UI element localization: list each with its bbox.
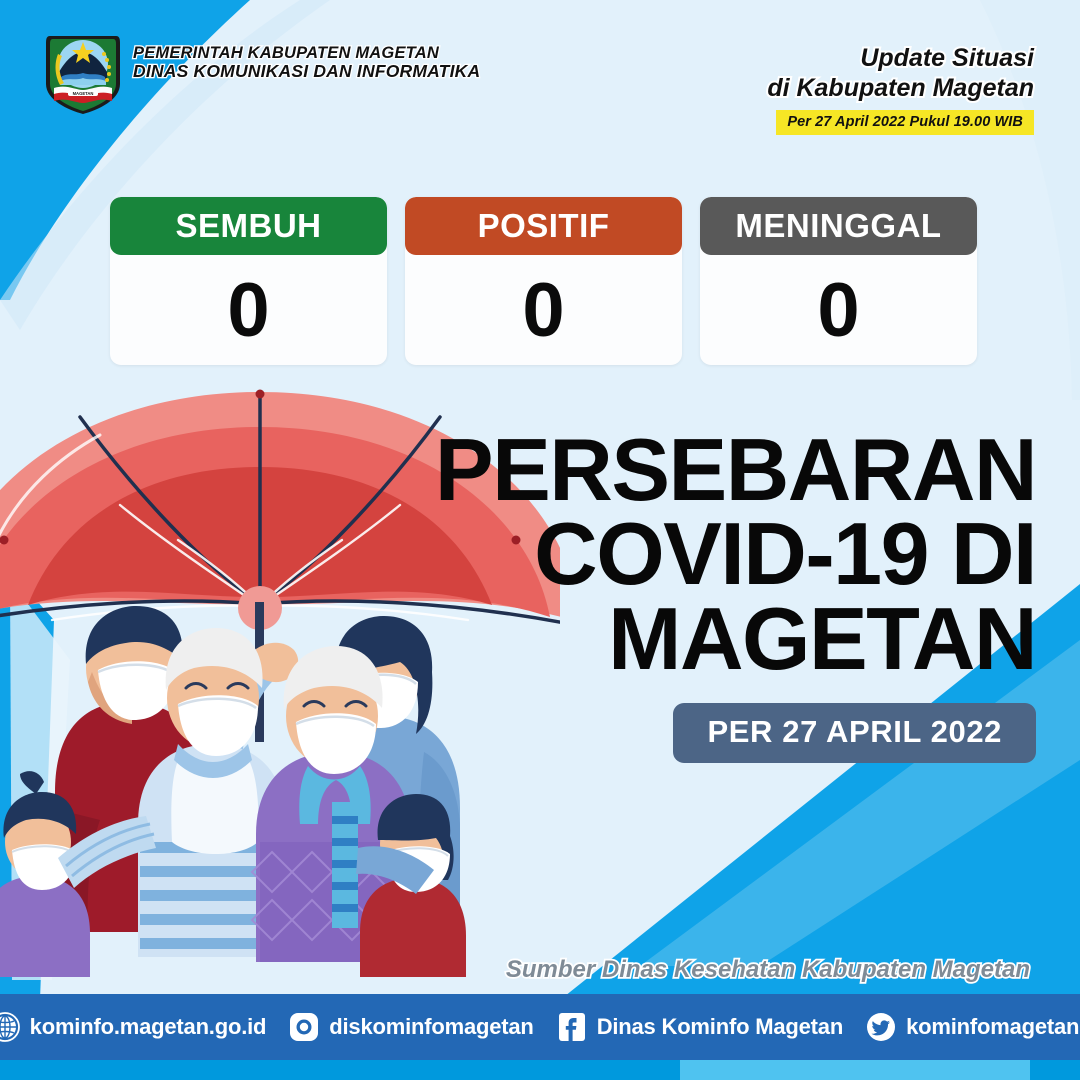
magetan-coat-of-arms-logo: MAGETAN (42, 28, 124, 116)
social-media-footer: kominfo.magetan.go.id diskominfomagetan (0, 994, 1080, 1080)
government-title: PEMERINTAH KABUPATEN MAGETAN DINAS KOMUN… (133, 44, 480, 82)
main-title-line-1: PERSEBARAN (376, 428, 1036, 512)
social-facebook[interactable]: Dinas Kominfo Magetan (556, 1011, 843, 1043)
update-title-line-1: Update Situasi (767, 44, 1034, 74)
footer-accent-strip (0, 1060, 1080, 1080)
main-title-line-2: COVID-19 DI (376, 512, 1036, 596)
social-website[interactable]: kominfo.magetan.go.id (0, 1011, 266, 1043)
update-situation-block: Update Situasi di Kabupaten Magetan Per … (767, 44, 1034, 135)
stat-card-meninggal-header: MENINGGAL (700, 197, 977, 255)
footer-strip-segment-right (1030, 1060, 1080, 1080)
report-date-badge: PER 27 APRIL 2022 (673, 703, 1036, 763)
globe-icon (0, 1011, 21, 1043)
stat-card-sembuh-value: 0 (110, 255, 387, 365)
main-title-block: PERSEBARAN COVID-19 DI MAGETAN PER 27 AP… (376, 428, 1036, 763)
stat-card-sembuh-header: SEMBUH (110, 197, 387, 255)
social-twitter[interactable]: kominfomagetan1 (865, 1011, 1080, 1043)
instagram-handle: diskominfomagetan (329, 1014, 533, 1040)
stat-card-sembuh-label: SEMBUH (175, 207, 321, 245)
facebook-icon (556, 1011, 588, 1043)
svg-text:MAGETAN: MAGETAN (73, 91, 94, 96)
stat-card-positif-header: POSITIF (405, 197, 682, 255)
gov-title-line-2: DINAS KOMUNIKASI DAN INFORMATIKA (133, 62, 480, 82)
footer-strip-segment-left (0, 1060, 680, 1080)
main-title-line-3: MAGETAN (376, 597, 1036, 681)
update-title-line-2: di Kabupaten Magetan (767, 74, 1034, 104)
footer-strip-segment-middle (680, 1060, 1030, 1080)
instagram-icon (288, 1011, 320, 1043)
stat-card-positif-value: 0 (405, 255, 682, 365)
poster-header: MAGETAN PEMERINTAH KABUPATEN MAGETAN DIN… (0, 24, 1080, 144)
stat-card-meninggal: MENINGGAL 0 (700, 197, 977, 365)
data-source-label: Sumber Dinas Kesehatan Kabupaten Magetan (506, 956, 1030, 984)
website-handle: kominfo.magetan.go.id (30, 1014, 267, 1040)
twitter-icon (865, 1011, 897, 1043)
update-timestamp-badge: Per 27 April 2022 Pukul 19.00 WIB (776, 110, 1034, 135)
stat-card-positif-label: POSITIF (478, 207, 610, 245)
stat-card-positif: POSITIF 0 (405, 197, 682, 365)
facebook-handle: Dinas Kominfo Magetan (597, 1014, 843, 1040)
statistics-cards: SEMBUH 0 POSITIF 0 MENINGGAL 0 (110, 197, 980, 365)
stat-card-sembuh: SEMBUH 0 (110, 197, 387, 365)
covid-update-poster: MAGETAN PEMERINTAH KABUPATEN MAGETAN DIN… (0, 0, 1080, 1080)
twitter-handle: kominfomagetan1 (906, 1014, 1080, 1040)
gov-title-line-1: PEMERINTAH KABUPATEN MAGETAN (133, 44, 480, 62)
stat-card-meninggal-value: 0 (700, 255, 977, 365)
stat-card-meninggal-label: MENINGGAL (735, 207, 941, 245)
social-instagram[interactable]: diskominfomagetan (288, 1011, 533, 1043)
